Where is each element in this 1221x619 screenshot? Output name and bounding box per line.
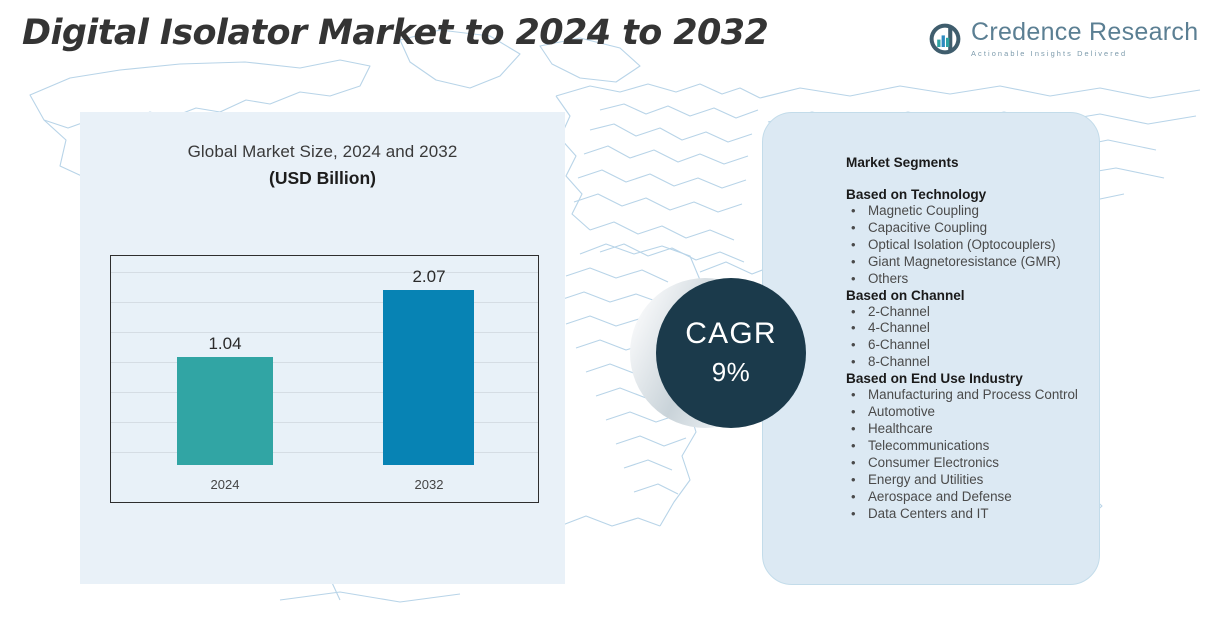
cagr-value: 9% (712, 357, 750, 388)
segment-list-technology: Magnetic Coupling Capacitive Coupling Op… (846, 203, 1098, 288)
list-item: Telecommunications (846, 438, 1098, 455)
list-item: Data Centers and IT (846, 506, 1098, 523)
list-item: Consumer Electronics (846, 455, 1098, 472)
bar-2032 (383, 290, 474, 465)
list-item: Capacitive Coupling (846, 220, 1098, 237)
segment-list-channel: 2-Channel 4-Channel 6-Channel 8-Channel (846, 304, 1098, 372)
list-item: Optical Isolation (Optocouplers) (846, 237, 1098, 254)
list-item: Manufacturing and Process Control (846, 387, 1098, 404)
list-item: Automotive (846, 404, 1098, 421)
segment-list-end-use-industry: Manufacturing and Process Control Automo… (846, 387, 1098, 522)
logo-text-block: Credence Research Actionable Insights De… (971, 20, 1198, 58)
chart-subtitle: (USD Billion) (80, 168, 565, 189)
list-item: Healthcare (846, 421, 1098, 438)
chart-title: Global Market Size, 2024 and 2032 (80, 142, 565, 162)
list-item: Giant Magnetoresistance (GMR) (846, 254, 1098, 271)
cagr-badge: CAGR 9% (630, 278, 806, 428)
logo-tagline: Actionable Insights Delivered (971, 49, 1198, 58)
list-item: Aerospace and Defense (846, 489, 1098, 506)
list-item: Energy and Utilities (846, 472, 1098, 489)
logo-company-name: Credence Research (971, 20, 1198, 45)
segments-content: Market Segments Based on Technology Magn… (846, 155, 1098, 522)
bar-value-2024: 1.04 (165, 334, 285, 354)
cagr-circle: CAGR 9% (656, 278, 806, 428)
axis-label-2024: 2024 (165, 477, 285, 492)
bar-chart-plot-area: 1.04 2.07 2024 2032 (110, 255, 539, 503)
segments-title: Market Segments (846, 155, 1098, 170)
list-item: Magnetic Coupling (846, 203, 1098, 220)
bar-chart-circle-icon (928, 22, 962, 56)
segment-group-technology: Based on Technology Magnetic Coupling Ca… (846, 187, 1098, 288)
list-item: 2-Channel (846, 304, 1098, 321)
bar-2024 (177, 357, 273, 465)
cagr-label: CAGR (685, 318, 776, 350)
axis-label-2032: 2032 (369, 477, 489, 492)
bar-value-2032: 2.07 (369, 267, 489, 287)
list-item: Others (846, 271, 1098, 288)
page-title: Digital Isolator Market to 2024 to 2032 (22, 13, 768, 53)
segment-group-channel: Based on Channel 2-Channel 4-Channel 6-C… (846, 288, 1098, 372)
list-item: 4-Channel (846, 320, 1098, 337)
list-item: 6-Channel (846, 337, 1098, 354)
brand-logo: Credence Research Actionable Insights De… (928, 20, 1198, 58)
list-item: 8-Channel (846, 354, 1098, 371)
infographic-canvas: Digital Isolator Market to 2024 to 2032 … (0, 0, 1221, 619)
segment-heading-technology: Based on Technology (846, 187, 1098, 202)
segment-group-end-use-industry: Based on End Use Industry Manufacturing … (846, 371, 1098, 522)
segment-heading-channel: Based on Channel (846, 288, 1098, 303)
segment-heading-end-use-industry: Based on End Use Industry (846, 371, 1098, 386)
